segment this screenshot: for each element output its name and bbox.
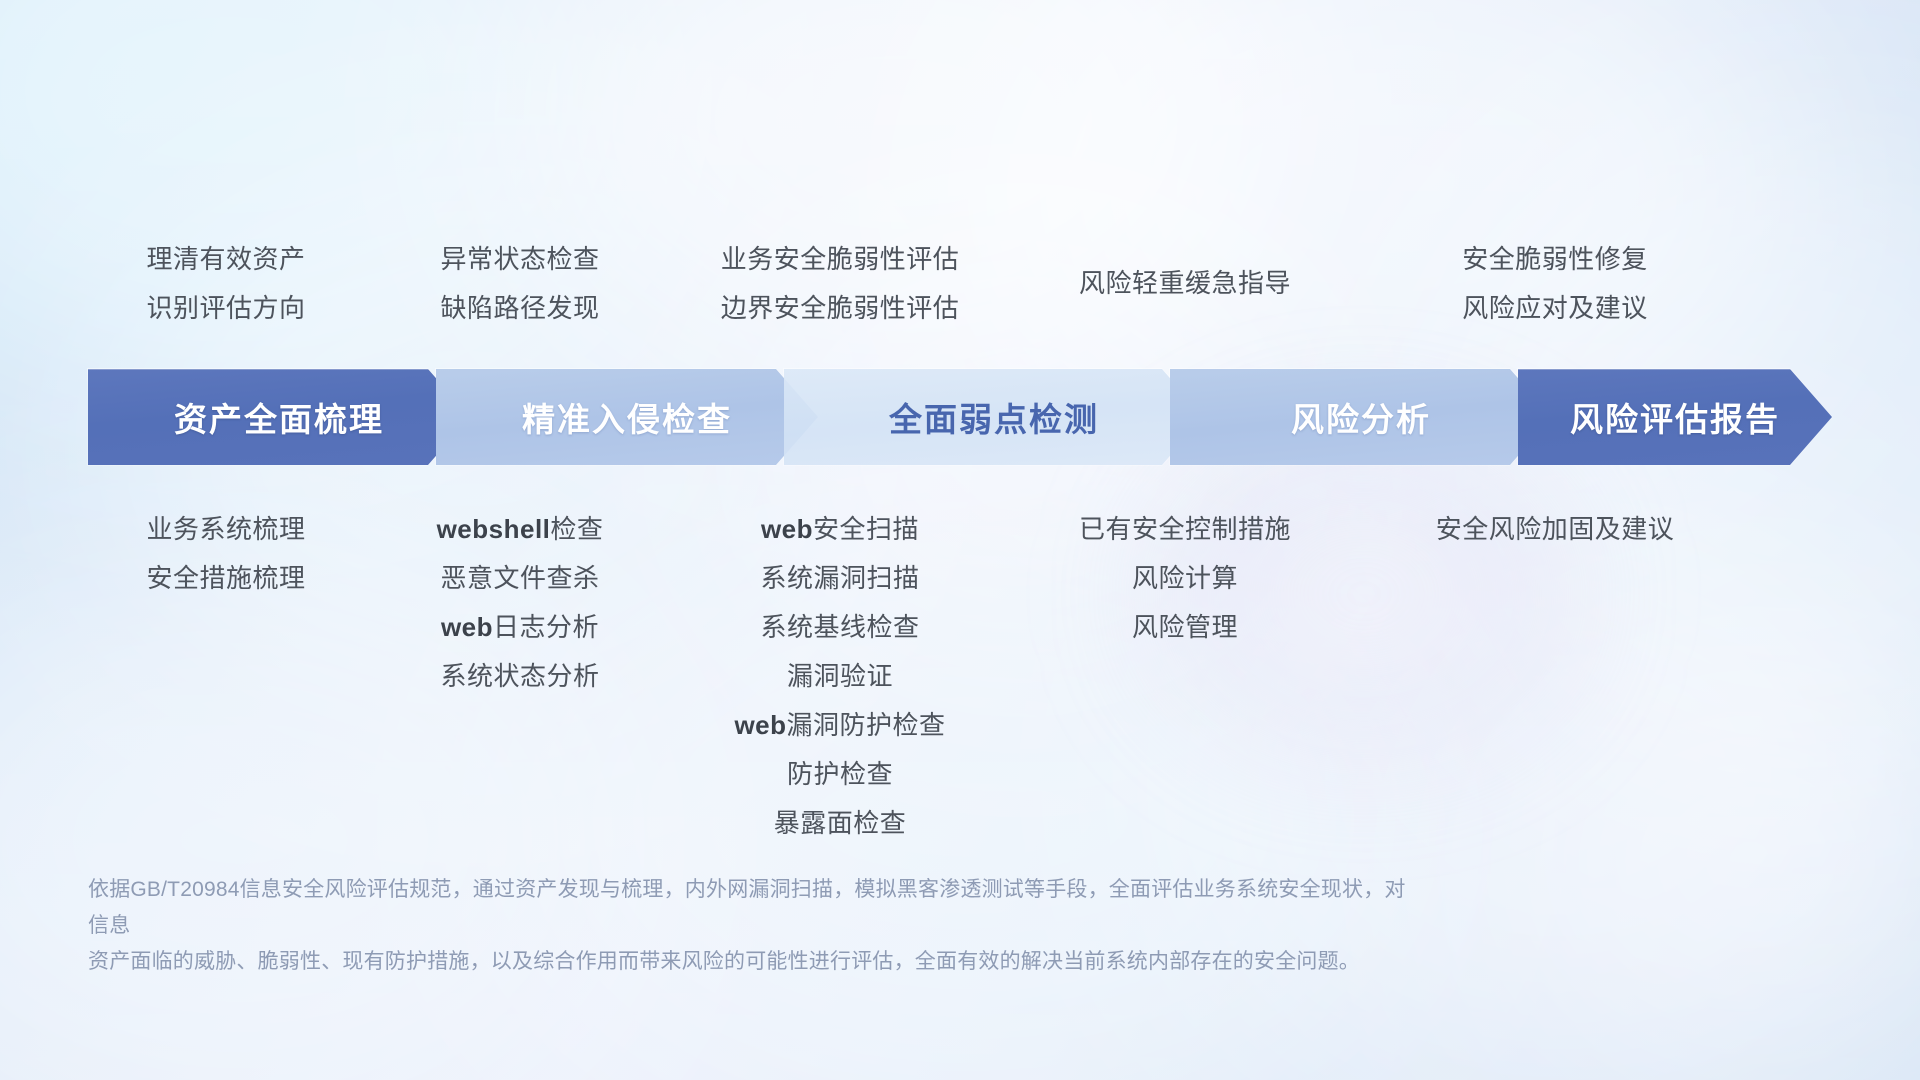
stage-title: 风险分析	[1291, 393, 1431, 441]
stage-title: 风险评估报告	[1570, 393, 1780, 441]
below-label-item: 安全风险加固及建议	[1345, 505, 1765, 554]
above-label-item: 风险应对及建议	[1345, 284, 1765, 333]
latin-token: web	[761, 514, 813, 544]
stage-chevron-asset-inventory[interactable]: 资产全面梳理	[88, 369, 470, 465]
stage-chevron-risk-assessment-report[interactable]: 风险评估报告	[1518, 369, 1832, 465]
latin-token: webshell	[437, 514, 551, 544]
below-label-item: 暴露面检查	[630, 799, 1050, 848]
stage-title: 资产全面梳理	[174, 393, 384, 441]
footer-description: 依据GB/T20984信息安全风险评估规范，通过资产发现与梳理，内外网漏洞扫描，…	[88, 872, 1408, 980]
stage-above-labels-risk-analysis: 风险轻重缓急指导	[975, 259, 1395, 308]
stage-chevron-weakness-detection[interactable]: 全面弱点检测	[784, 369, 1204, 465]
stage-chevron-risk-analysis[interactable]: 风险分析	[1170, 369, 1552, 465]
below-label-item: 风险计算	[975, 554, 1395, 603]
latin-token: web	[734, 710, 786, 740]
stage-below-labels-risk-assessment-report: 安全风险加固及建议	[1345, 505, 1765, 554]
stage-chevron-band: 资产全面梳理 精准入侵检查 全面弱点检测 风险分析 风险评估报告	[88, 369, 1832, 465]
stage-above-labels-risk-assessment-report: 安全脆弱性修复风险应对及建议	[1345, 235, 1765, 333]
above-label-item: 安全脆弱性修复	[1345, 235, 1765, 284]
below-label-item: 已有安全控制措施	[975, 505, 1395, 554]
below-label-item: 漏洞验证	[630, 652, 1050, 701]
process-diagram: 理清有效资产识别评估方向 异常状态检查缺陷路径发现 业务安全脆弱性评估边界安全脆…	[0, 0, 1920, 1080]
below-label-item: 风险管理	[975, 603, 1395, 652]
below-label-item: web漏洞防护检查	[630, 701, 1050, 750]
footer-line-2: 资产面临的威胁、脆弱性、现有防护措施，以及综合作用而带来风险的可能性进行评估，全…	[88, 944, 1408, 980]
stage-title: 全面弱点检测	[889, 393, 1099, 441]
stage-title: 精准入侵检查	[522, 393, 732, 441]
latin-token: web	[441, 612, 493, 642]
footer-line-1: 依据GB/T20984信息安全风险评估规范，通过资产发现与梳理，内外网漏洞扫描，…	[88, 872, 1408, 944]
stage-chevron-intrusion-inspection[interactable]: 精准入侵检查	[436, 369, 818, 465]
above-label-item: 风险轻重缓急指导	[975, 259, 1395, 308]
stage-below-labels-risk-analysis: 已有安全控制措施风险计算风险管理	[975, 505, 1395, 652]
below-label-item: 防护检查	[630, 750, 1050, 799]
